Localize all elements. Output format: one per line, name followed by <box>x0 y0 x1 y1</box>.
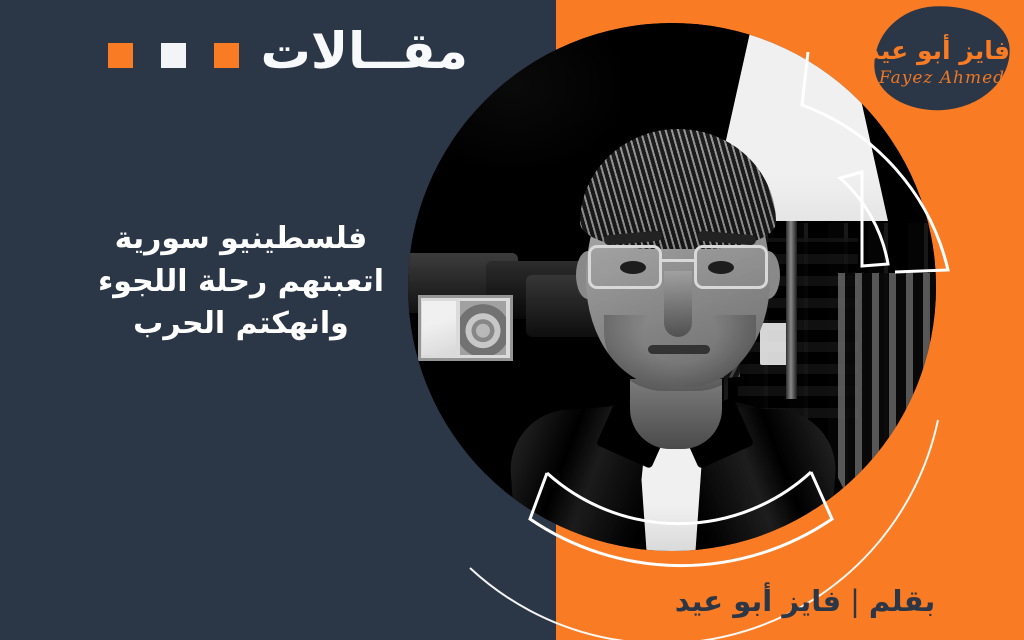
eyeglasses-lens-left <box>588 245 662 289</box>
square-mark-1 <box>214 43 239 68</box>
section-title: مقــالات <box>278 24 468 79</box>
logo-arabic-name: فايز أبو عيد <box>874 36 1010 65</box>
byline-author: فايز أبو عيد <box>675 584 841 618</box>
eyeglasses-icon <box>586 245 770 293</box>
square-mark-3 <box>108 43 133 68</box>
brand-logo[interactable]: فايز أبو عيد Fayez Ahmed <box>874 6 1010 110</box>
square-marks-group <box>108 43 239 68</box>
square-mark-2 <box>161 43 186 68</box>
eyeglasses-bridge <box>662 259 694 262</box>
logo-signature: Fayez Ahmed <box>874 68 1010 88</box>
author-portrait-image <box>408 23 936 551</box>
byline-separator: | <box>850 584 860 618</box>
author-figure <box>408 23 936 551</box>
byline: بقلم|فايز أبو عيد <box>556 584 1024 618</box>
figure-mouth <box>648 345 710 354</box>
byline-prefix: بقلم <box>869 584 935 618</box>
figure-hair <box>580 129 776 249</box>
headline-line-1: فلسطينيو سورية <box>36 218 446 261</box>
article-headline: فلسطينيو سورية اتعبتهم رحلة اللجوء وانهك… <box>36 218 446 346</box>
headline-line-3: وانهكتم الحرب <box>36 303 446 346</box>
article-poster: مقــالات فلسطينيو سورية اتعبتهم رحلة الل… <box>0 0 1024 640</box>
headline-line-2: اتعبتهم رحلة اللجوء <box>36 261 446 304</box>
eyeglasses-lens-right <box>694 245 768 289</box>
author-portrait-circle <box>408 23 936 551</box>
